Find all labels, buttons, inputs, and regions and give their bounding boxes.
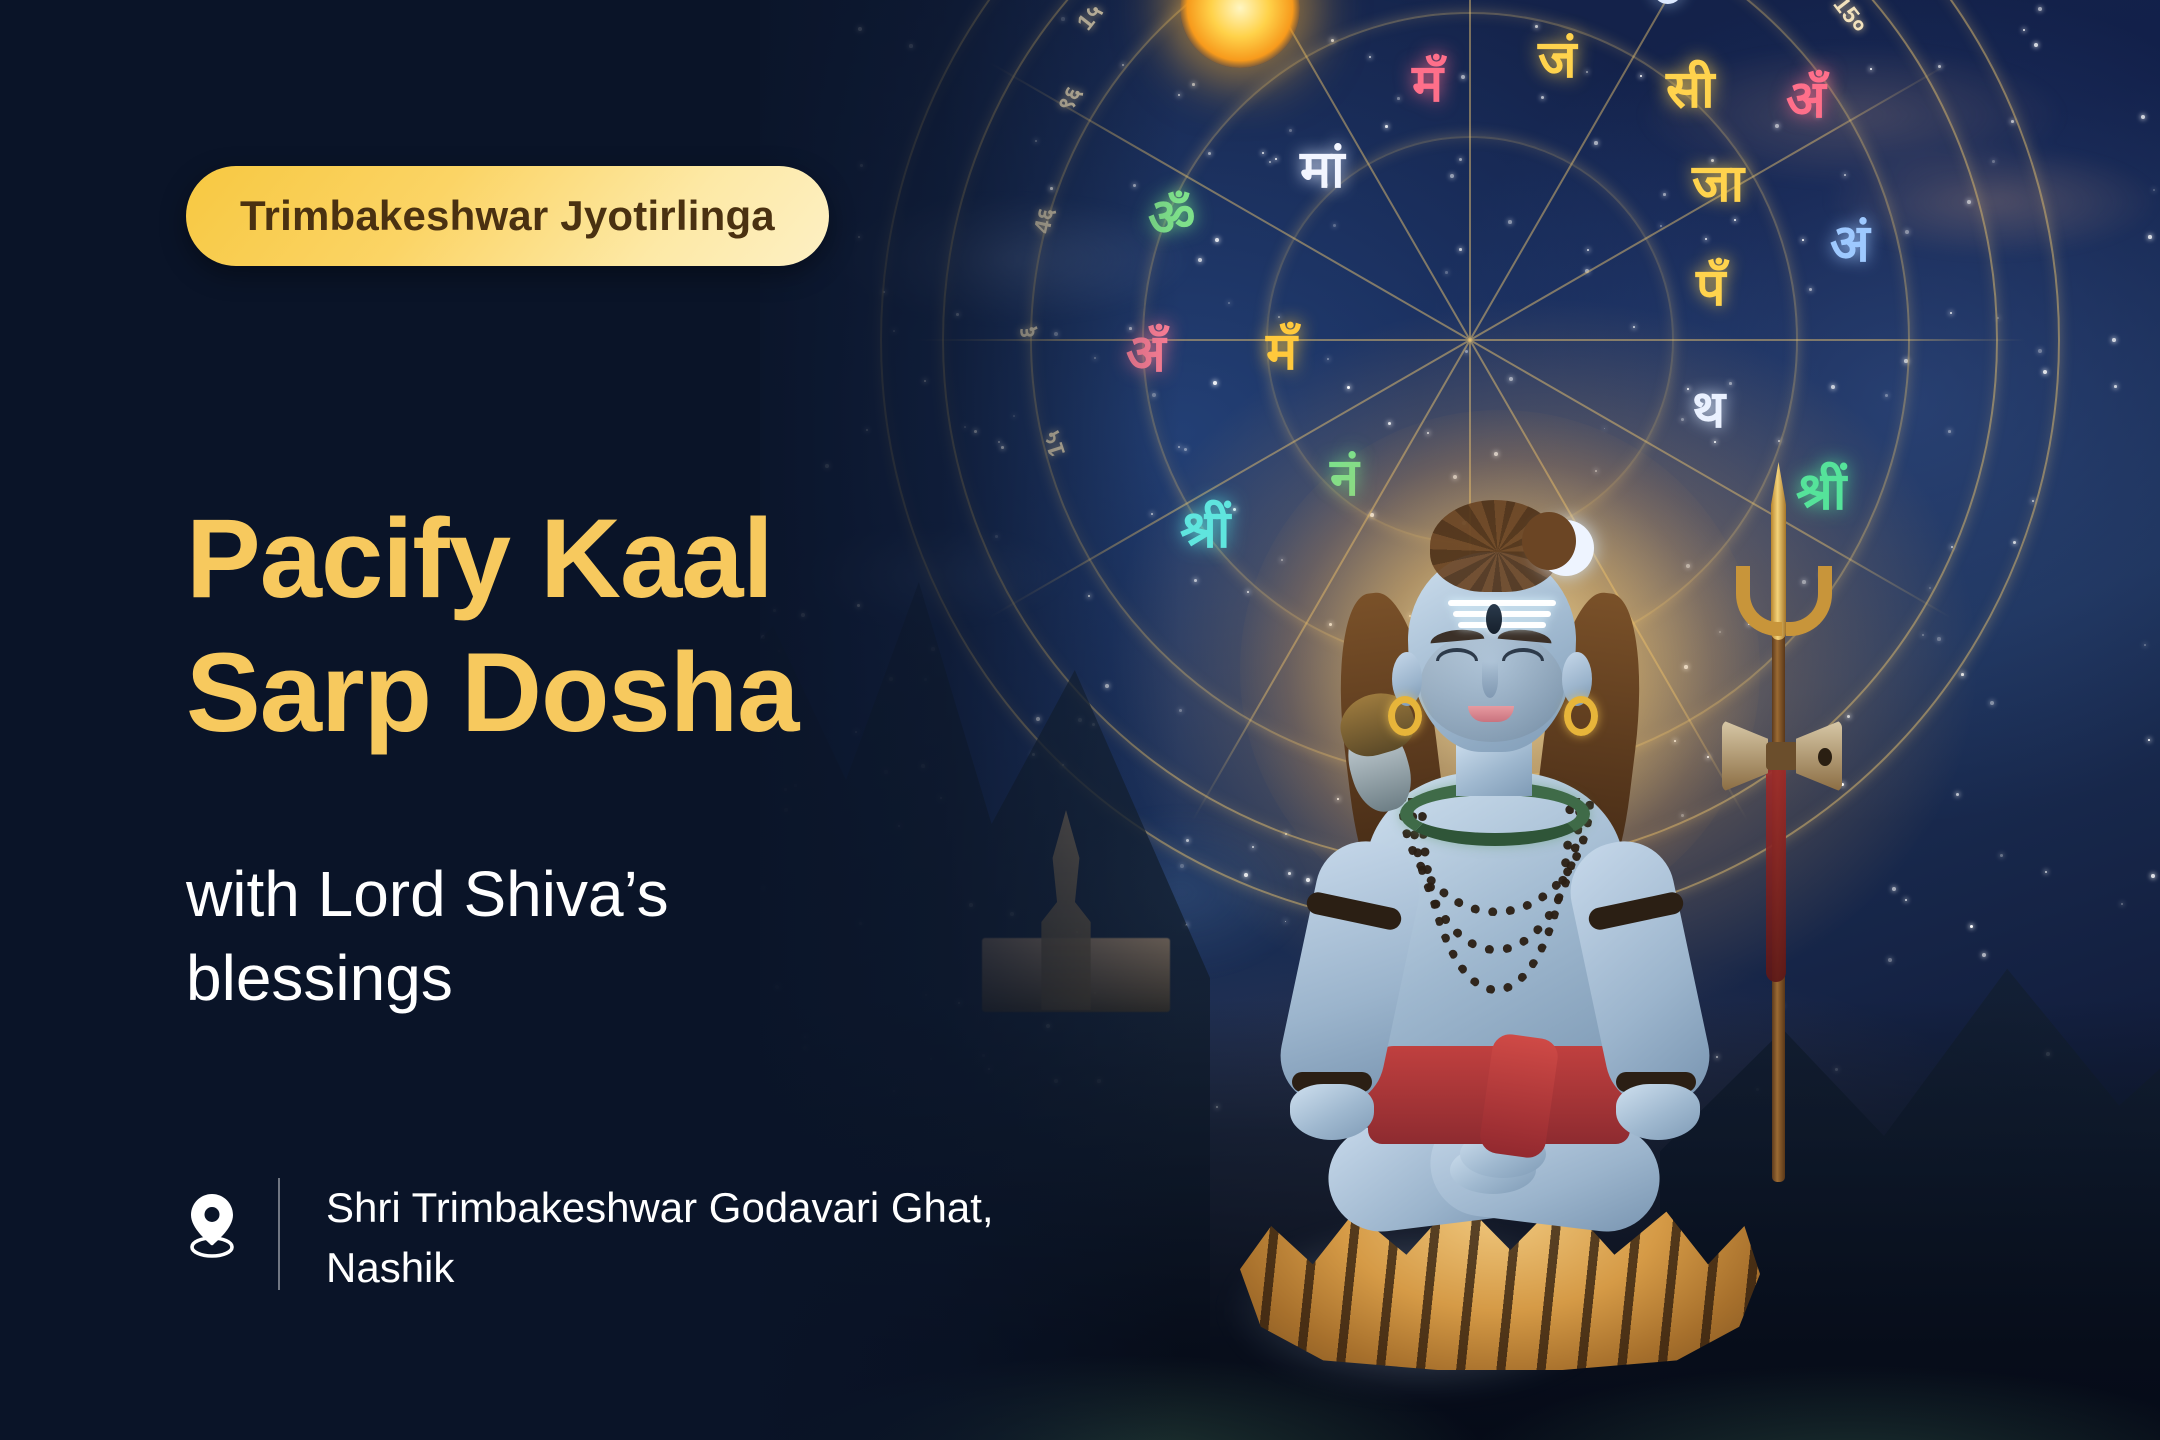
wheel-glyph: जं [1538,22,1577,93]
headline-line-1: Pacify Kaal [186,496,773,621]
damaru-hole [1818,748,1832,766]
wheel-glyph: मँ [1412,46,1443,117]
shiva-left-earring [1388,696,1422,736]
location-block: Shri Trimbakeshwar Godavari Ghat, Nashik [186,1178,1026,1297]
headline-line-2: Sarp Dosha [186,626,1006,760]
wheel-glyph: सी [1666,52,1715,123]
shiva-figure [1130,200,1850,1380]
tripundra-tilak-icon [1448,600,1556,630]
shiva-nose [1482,662,1498,698]
location-pin-wrap [186,1178,278,1258]
wheel-glyph: अँ [1786,62,1826,133]
third-eye-icon [1486,604,1502,634]
trishul-ribbon [1766,762,1786,982]
damaru-icon [1722,720,1842,792]
shiva-right-hand [1616,1084,1700,1140]
badge-label: Trimbakeshwar Jyotirlinga [240,192,775,240]
page-title: Pacify Kaal Sarp Dosha [186,492,1006,761]
trishul-right-hook [1786,566,1832,636]
shiva-crescent-moon-icon [1538,520,1594,576]
zodiac-taurus-icon: ♉ [1640,0,1696,19]
damaru-knot [1766,742,1798,770]
trishul-icon [1750,462,1806,1182]
shiva-right-earring [1564,696,1598,736]
promo-banner: ♉ ९६ 1५ 4६ 3० 5॥ 1॥ 8० 11० 401 15० 4६ ६ … [0,0,2160,1440]
sun-icon [1180,0,1300,68]
damaru-left-drum [1722,720,1768,792]
jyotirlinga-badge: Trimbakeshwar Jyotirlinga [186,166,829,266]
panel-content: Trimbakeshwar Jyotirlinga Pacify Kaal Sa… [186,0,1046,1440]
location-pin-icon [186,1192,238,1258]
page-subtitle: with Lord Shiva’s blessings [186,852,946,1021]
content-panel: Trimbakeshwar Jyotirlinga Pacify Kaal Sa… [0,0,1080,1440]
shiva-left-hand [1290,1084,1374,1140]
wheel-glyph: मां [1300,132,1345,203]
location-text: Shri Trimbakeshwar Godavari Ghat, Nashik [326,1178,1026,1297]
location-divider [278,1178,280,1290]
